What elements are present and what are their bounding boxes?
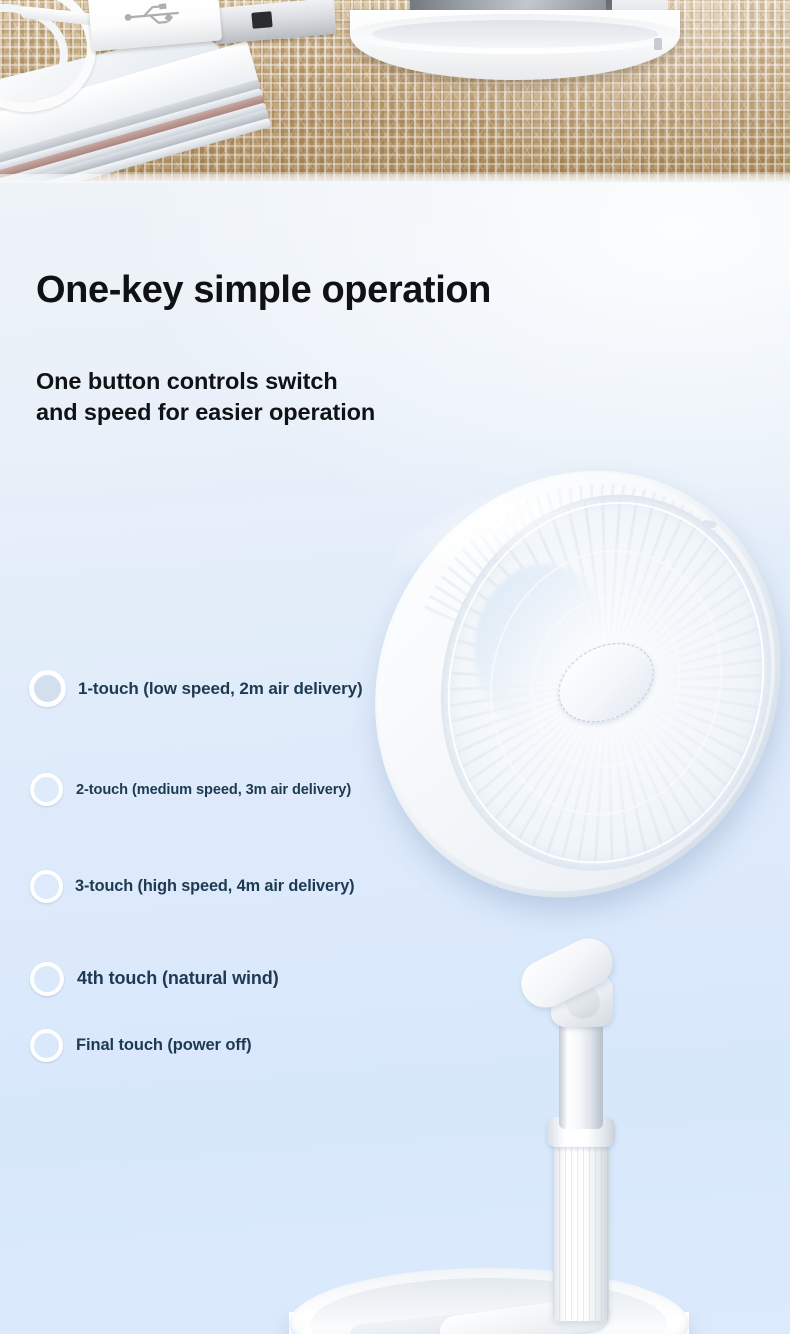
bullet-ring-icon bbox=[30, 773, 63, 806]
product-image-fan bbox=[265, 483, 790, 1334]
telescoping-stem-upper bbox=[559, 1013, 603, 1129]
feature-panel: One-key simple operation One button cont… bbox=[0, 183, 790, 1334]
photo-bottom-fade bbox=[0, 174, 790, 183]
bullet-ring-icon bbox=[30, 962, 64, 996]
fan-base bbox=[289, 1268, 689, 1334]
touch-mode-label: Final touch (power off) bbox=[76, 1036, 252, 1055]
touch-mode-label: 4th touch (natural wind) bbox=[77, 968, 279, 989]
photo-fan-base-button bbox=[654, 38, 662, 50]
product-detail-page: One-key simple operation One button cont… bbox=[0, 0, 790, 1334]
usb-connector-slot bbox=[251, 11, 272, 29]
page-title: One-key simple operation bbox=[36, 269, 491, 312]
page-subtitle: One button controls switch and speed for… bbox=[36, 366, 375, 428]
bullet-ring-icon bbox=[30, 1029, 63, 1062]
telescoping-stem-lower bbox=[553, 1131, 609, 1321]
hero-lifestyle-photo bbox=[0, 0, 790, 183]
fan-base-top bbox=[289, 1268, 689, 1334]
photo-fan-base-well bbox=[372, 20, 658, 48]
photo-fan-base-body bbox=[350, 10, 680, 80]
fan-head bbox=[342, 445, 790, 936]
bullet-ring-icon bbox=[30, 870, 63, 903]
bullet-ring-icon bbox=[29, 670, 66, 707]
photo-folded-fan-base bbox=[350, 0, 680, 88]
